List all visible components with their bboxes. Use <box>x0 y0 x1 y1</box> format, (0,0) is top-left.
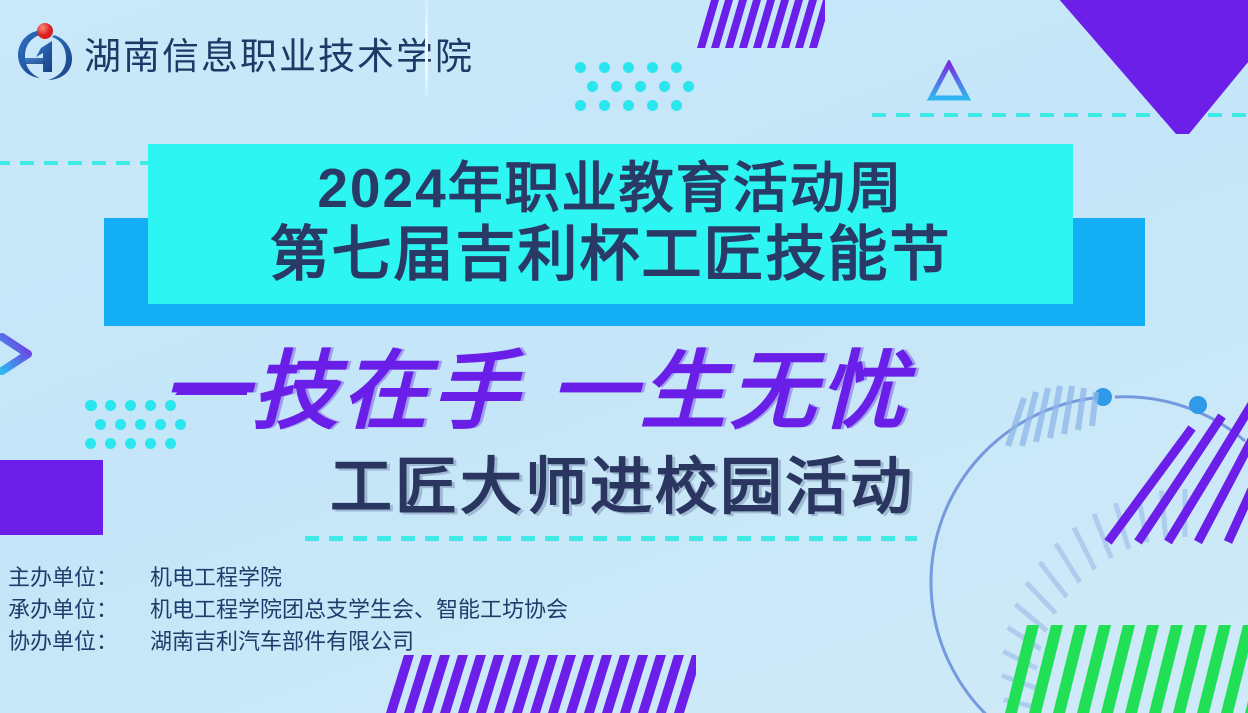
credit-row: 主办单位： 机电工程学院 <box>8 562 568 594</box>
credit-row: 协办单位： 湖南吉利汽车部件有限公司 <box>8 626 568 658</box>
title-line-1: 2024年职业教育活动周 <box>148 160 1073 216</box>
credit-row: 承办单位： 机电工程学院团总支学生会、智能工坊协会 <box>8 594 568 626</box>
credit-value: 湖南吉利汽车部件有限公司 <box>126 626 414 658</box>
credit-label: 承办单位： <box>8 594 126 626</box>
purple-triangle-outline-icon <box>927 60 971 102</box>
title-panel: 2024年职业教育活动周 第七届吉利杯工匠技能节 <box>148 144 1073 304</box>
credit-label: 协办单位： <box>8 626 126 658</box>
hunan-college-emblem-icon <box>14 22 76 84</box>
school-logo: 湖南信息职业技术学院 <box>14 20 474 86</box>
purple-diagonal-bars-right <box>1100 370 1248 550</box>
cyan-dashed-underline <box>305 536 917 541</box>
title-line-2: 第七届吉利杯工匠技能节 <box>148 224 1073 285</box>
purple-diagonal-stripes-bottom <box>386 655 696 713</box>
purple-rectangle-left <box>0 460 103 535</box>
credits-block: 主办单位： 机电工程学院 承办单位： 机电工程学院团总支学生会、智能工坊协会 协… <box>8 562 568 658</box>
main-slogan: 一技在手 一生无忧 <box>162 344 1042 440</box>
school-name: 湖南信息职业技术学院 <box>84 26 474 80</box>
credit-value: 机电工程学院团总支学生会、智能工坊协会 <box>126 594 568 626</box>
gradient-chevron-arrow-icon <box>0 333 42 375</box>
credit-value: 机电工程学院 <box>126 562 282 594</box>
sub-slogan: 工匠大师进校园活动 <box>330 452 970 524</box>
green-diagonal-stripes-bottom <box>1005 625 1248 713</box>
purple-diagonal-stripes-top <box>697 0 825 48</box>
poster-canvas: 湖南信息职业技术学院 2024年职业教育活动周 第七届吉利杯工匠技能节 一技在手… <box>0 0 1248 713</box>
cyan-dashed-line-left <box>0 161 148 165</box>
purple-chevron-wedge <box>1058 0 1248 136</box>
credit-label: 主办单位： <box>8 562 126 594</box>
header-divider <box>425 0 428 98</box>
